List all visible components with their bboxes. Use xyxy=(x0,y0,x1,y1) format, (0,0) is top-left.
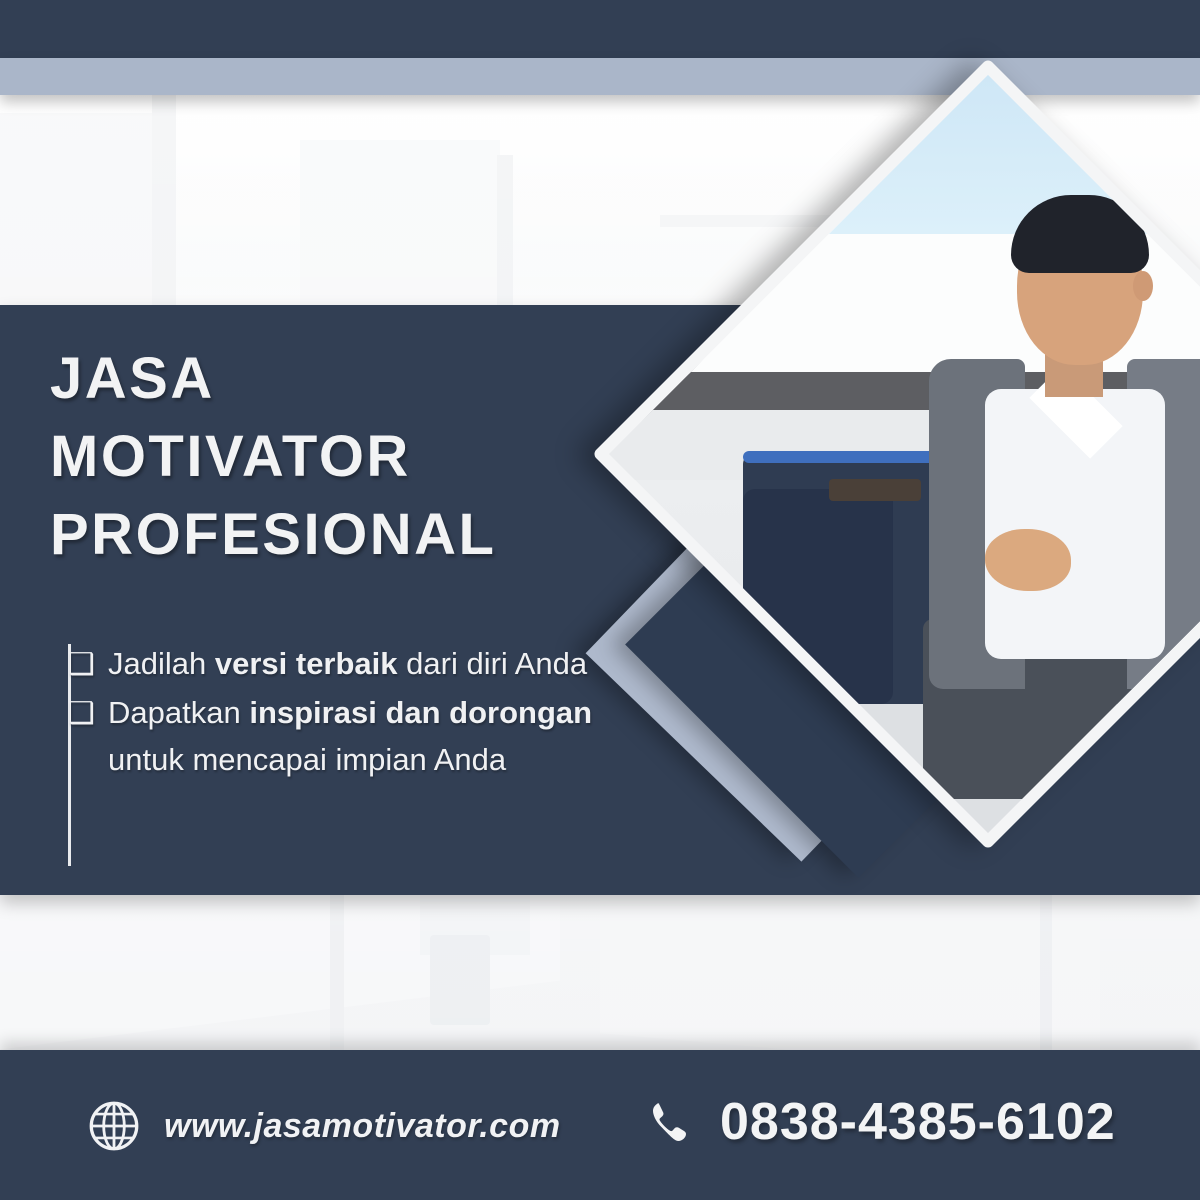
bullet-1-suffix: dari diri Anda xyxy=(398,646,588,681)
website-contact[interactable]: www.jasamotivator.com xyxy=(88,1100,561,1152)
photo-composition xyxy=(560,180,1200,1030)
phone-contact[interactable]: 0838-4385-6102 xyxy=(648,1092,1116,1152)
photo-phone-on-armrest xyxy=(829,479,921,501)
headline-line-3: PROFESIONAL xyxy=(50,496,670,574)
bullet-2-suffix: untuk mencapai impian Anda xyxy=(108,742,506,777)
bullet-1-prefix: Jadilah xyxy=(108,646,215,681)
phone-text: 0838-4385-6102 xyxy=(720,1092,1116,1152)
list-item: ❑Dapatkan inspirasi dan dorongan untuk m… xyxy=(108,689,630,783)
photo-ear xyxy=(1133,271,1153,301)
checkbox-marker-icon: ❑ xyxy=(68,690,95,737)
globe-icon xyxy=(88,1100,140,1152)
bg-shape xyxy=(420,885,530,955)
headline-line-1: JASA xyxy=(50,340,670,418)
checkbox-marker-icon: ❑ xyxy=(68,641,95,688)
bullet-2-emphasis: inspirasi dan dorongan xyxy=(249,695,592,730)
phone-icon xyxy=(648,1098,696,1146)
benefits-block: ❑Jadilah versi terbaik dari diri Anda ❑D… xyxy=(50,640,630,785)
benefits-list: ❑Jadilah versi terbaik dari diri Anda ❑D… xyxy=(50,640,630,783)
headline-line-2: MOTIVATOR xyxy=(50,418,670,496)
website-text: www.jasamotivator.com xyxy=(164,1107,561,1146)
bullet-1-emphasis: versi terbaik xyxy=(215,646,398,681)
list-item: ❑Jadilah versi terbaik dari diri Anda xyxy=(108,640,630,687)
poster-canvas: JASA MOTIVATOR PROFESIONAL ❑Jadilah vers… xyxy=(0,0,1200,1200)
top-navy-bar xyxy=(0,0,1200,58)
bg-shape xyxy=(430,935,490,1025)
bullet-2-prefix: Dapatkan xyxy=(108,695,249,730)
headline: JASA MOTIVATOR PROFESIONAL xyxy=(50,340,670,574)
photo-hand xyxy=(985,529,1071,591)
